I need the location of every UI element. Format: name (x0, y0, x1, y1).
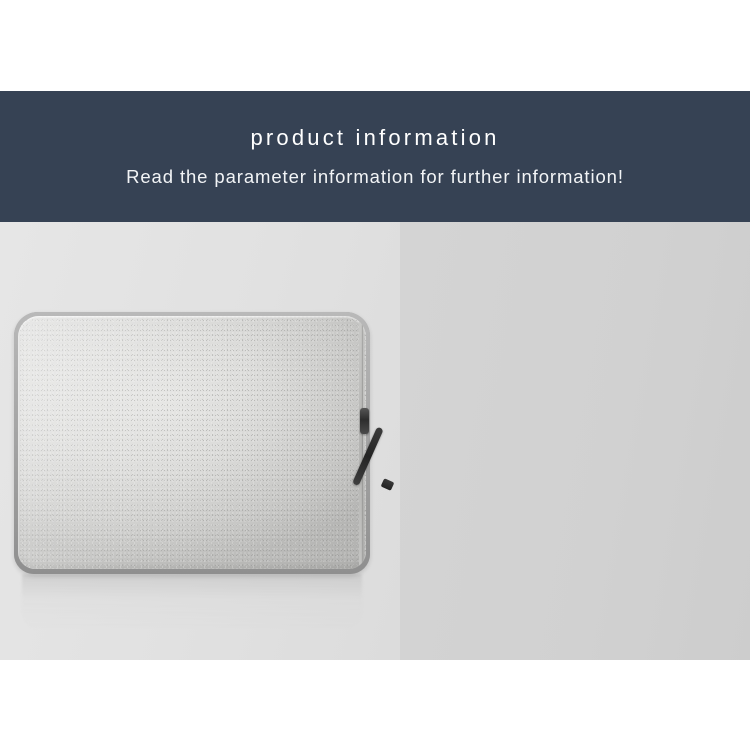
zipper-pull-tip-icon (381, 478, 395, 491)
laptop-sleeve (14, 312, 370, 574)
laptop-sleeve-photo (0, 222, 400, 660)
zipper-slider-icon (360, 408, 369, 434)
spec-table-panel: inch external internal weight 11.6 33.5×… (400, 222, 750, 660)
product-information-banner: product information Read the parameter i… (0, 91, 750, 222)
banner-title: product information (250, 127, 499, 149)
sleeve-sheen (18, 316, 366, 569)
zipper-track-icon (359, 321, 363, 569)
product-information-page: product information Read the parameter i… (0, 0, 750, 750)
banner-subtitle: Read the parameter information for furth… (126, 168, 624, 187)
product-photo-panel (0, 222, 400, 660)
product-reflection (22, 574, 362, 630)
content-area: inch external internal weight 11.6 33.5×… (0, 222, 750, 660)
sleeve-front-panel (18, 316, 366, 569)
